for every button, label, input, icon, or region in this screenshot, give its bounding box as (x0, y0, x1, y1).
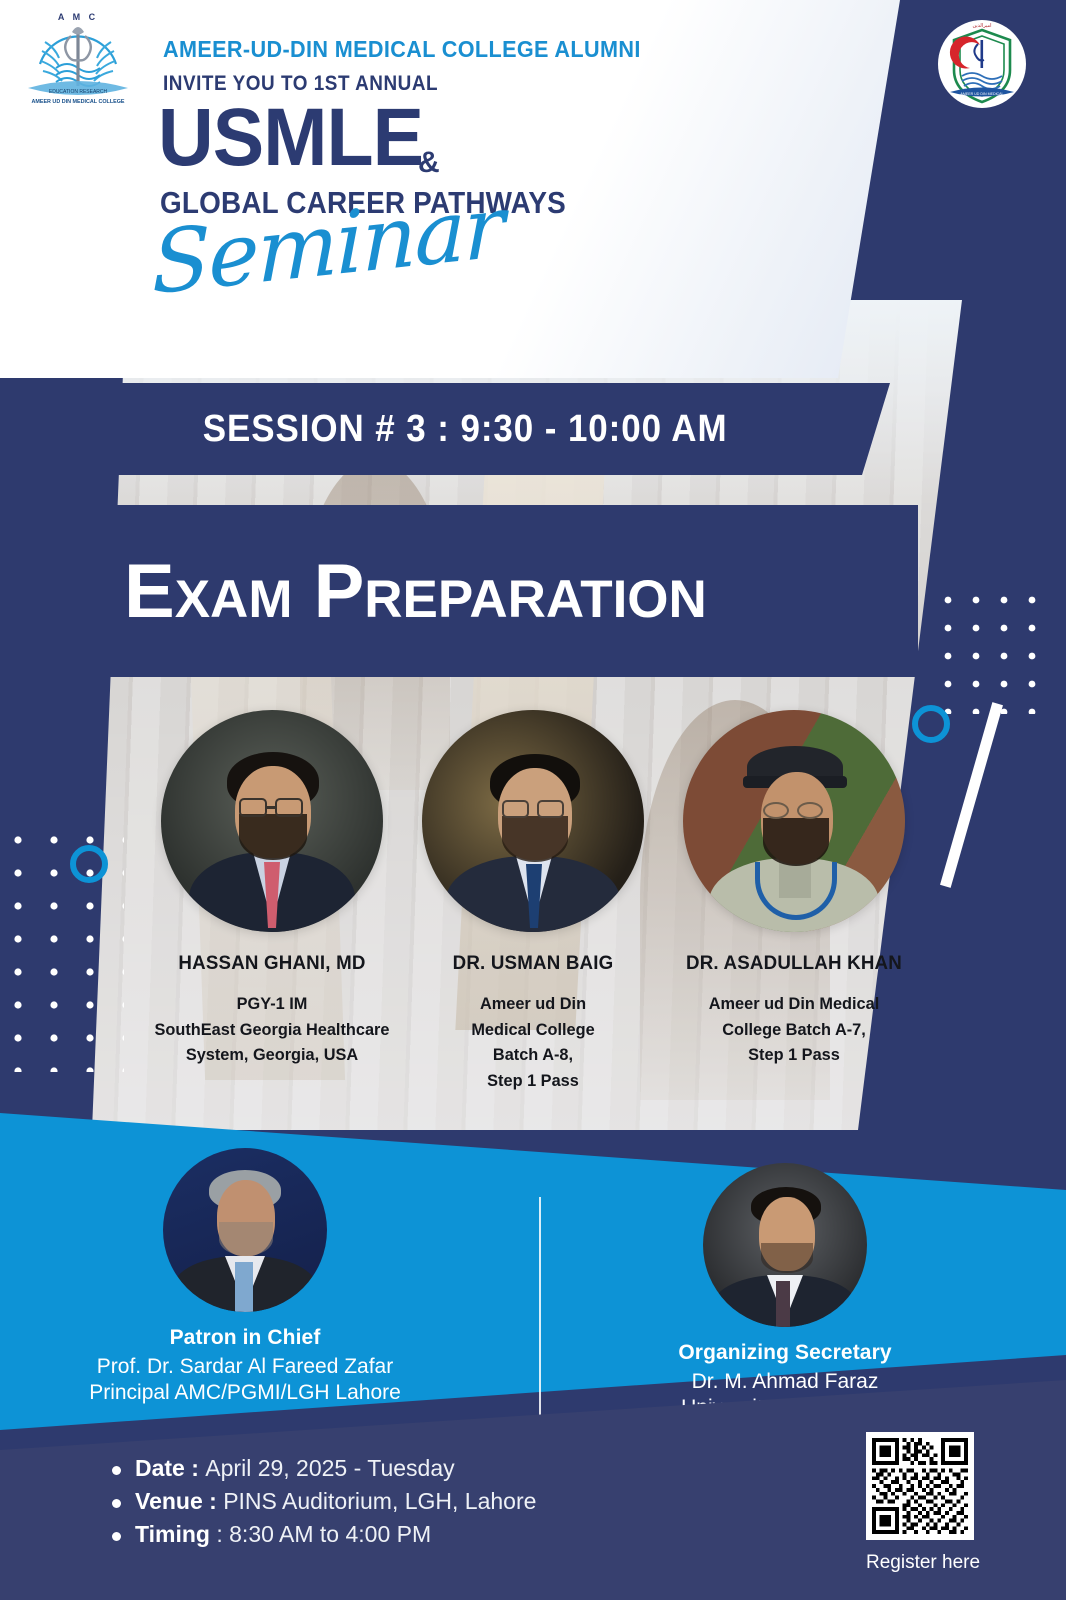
event-detail-row: Timing : 8:30 AM to 4:00 PM (112, 1521, 752, 1548)
session-title-bar: Exam Preparation (62, 505, 918, 677)
speaker-card: DR. ASADULLAH KHAN Ameer ud Din Medical … (644, 710, 944, 1068)
seminar-poster: A M C EDUCATION RESEARCH AMEER UD DIN ME… (0, 0, 1066, 1600)
ameer-ud-din-shield-logo: AMEER UD DIN MEDICAL اميرالدين (936, 18, 1028, 110)
speaker-photo-asadullah-khan (683, 710, 905, 932)
speaker-photo-usman-baig (422, 710, 644, 932)
svg-text:AMEER UD DIN MEDICAL COLLEGE: AMEER UD DIN MEDICAL COLLEGE (31, 99, 124, 105)
organizer-card: Organizing Secretary Dr. M. Ahmad Faraz … (605, 1163, 965, 1420)
speaker-details: PGY-1 IM SouthEast Georgia Healthcare Sy… (128, 991, 416, 1068)
svg-text:اميرالدين: اميرالدين (972, 23, 991, 29)
qr-caption: Register here (866, 1552, 980, 1574)
detail-value: : 8:30 AM to 4:00 PM (216, 1521, 431, 1548)
session-bar: SESSION # 3 : 9:30 - 10:00 AM (62, 383, 890, 475)
speaker-name: DR. ASADULLAH KHAN (650, 952, 938, 975)
header-ampersand: & (418, 146, 440, 180)
registration-block[interactable]: Register here (866, 1432, 980, 1574)
svg-text:A M C: A M C (58, 12, 98, 22)
speaker-details: Ameer ud Din Medical College Batch A-8, … (389, 991, 677, 1093)
detail-label: Timing (135, 1521, 216, 1548)
organizer-photo-patron-in-chief (163, 1148, 327, 1312)
detail-value: April 29, 2025 - Tuesday (205, 1455, 454, 1482)
organizer-photo-organizing-secretary (703, 1163, 867, 1327)
bullet-icon (112, 1466, 121, 1475)
speaker-name: DR. USMAN BAIG (389, 952, 677, 975)
header-title-usmle: USMLE (158, 100, 423, 175)
organizers-divider (539, 1197, 541, 1419)
session-title: Exam Preparation (124, 548, 707, 635)
bullet-icon (112, 1532, 121, 1541)
registration-qr-code[interactable] (866, 1432, 974, 1540)
speaker-name: HASSAN GHANI, MD (128, 952, 416, 975)
event-detail-row: Venue : PINS Auditorium, LGH, Lahore (112, 1488, 752, 1515)
speaker-card: DR. USMAN BAIG Ameer ud Din Medical Coll… (383, 710, 683, 1093)
event-details-list: Date : April 29, 2025 - Tuesday Venue : … (112, 1455, 752, 1554)
organizer-card: Patron in Chief Prof. Dr. Sardar Al Fare… (65, 1148, 425, 1405)
svg-text:EDUCATION RESEARCH: EDUCATION RESEARCH (49, 89, 108, 95)
speaker-photo-hassan-ghani (161, 710, 383, 932)
detail-label: Venue : (135, 1488, 223, 1515)
speaker-details: Ameer ud Din Medical College Batch A-7, … (650, 991, 938, 1068)
bullet-icon (112, 1499, 121, 1508)
organizer-affiliation: Principal AMC/PGMI/LGH Lahore (65, 1381, 425, 1405)
session-bar-text: SESSION # 3 : 9:30 - 10:00 AM (203, 408, 750, 451)
svg-text:AMEER UD DIN MEDICAL: AMEER UD DIN MEDICAL (960, 92, 1003, 96)
organizer-name: Prof. Dr. Sardar Al Fareed Zafar (65, 1355, 425, 1379)
speaker-card: HASSAN GHANI, MD PGY-1 IM SouthEast Geor… (122, 710, 422, 1068)
organizer-role: Organizing Secretary (605, 1341, 965, 1365)
speakers-row: HASSAN GHANI, MD PGY-1 IM SouthEast Geor… (0, 700, 1066, 1100)
amc-crest-logo: A M C EDUCATION RESEARCH AMEER UD DIN ME… (18, 6, 138, 110)
event-detail-row: Date : April 29, 2025 - Tuesday (112, 1455, 752, 1482)
detail-label: Date : (135, 1455, 205, 1482)
detail-value: PINS Auditorium, LGH, Lahore (223, 1488, 536, 1515)
header-line-1: AMEER-UD-DIN MEDICAL COLLEGE ALUMNI (163, 36, 641, 63)
organizer-role: Patron in Chief (65, 1326, 425, 1350)
